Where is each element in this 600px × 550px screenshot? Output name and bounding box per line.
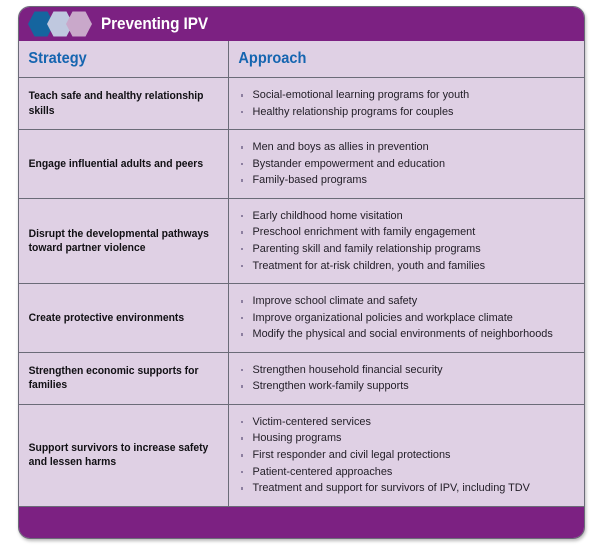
- strategy-cell: Disrupt the developmental pathways towar…: [19, 198, 228, 283]
- strategy-text: Create protective environments: [19, 301, 219, 335]
- hexagon-mauve-icon: [66, 11, 92, 37]
- table-header-row: Strategy Approach: [19, 41, 584, 78]
- approach-cell: Victim-centered services Housing program…: [228, 404, 584, 505]
- approach-list: Men and boys as allies in prevention Bys…: [240, 139, 577, 189]
- table-row: Create protective environments Improve s…: [19, 284, 584, 353]
- list-item: Improve organizational policies and work…: [240, 310, 577, 327]
- strategy-text: Strengthen economic supports for familie…: [19, 354, 219, 403]
- column-header-approach-label: Approach: [229, 41, 563, 77]
- strategy-cell: Strengthen economic supports for familie…: [19, 352, 228, 404]
- list-item: Housing programs: [240, 430, 577, 447]
- strategy-text: Support survivors to increase safety and…: [19, 431, 219, 480]
- column-header-strategy-label: Strategy: [19, 41, 215, 77]
- strategy-cell: Support survivors to increase safety and…: [19, 404, 228, 505]
- list-item: Treatment and support for survivors of I…: [240, 480, 577, 497]
- list-item: Preschool enrichment with family engagem…: [240, 224, 577, 241]
- card-footer: [19, 506, 584, 538]
- page-root: Preventing IPV Strategy Approach: [0, 0, 600, 550]
- list-item: Strengthen household financial security: [240, 362, 577, 379]
- strategy-text: Engage influential adults and peers: [19, 147, 219, 181]
- strategy-cell: Create protective environments: [19, 284, 228, 353]
- list-item: Men and boys as allies in prevention: [240, 139, 577, 156]
- table-head: Strategy Approach: [19, 41, 584, 78]
- approach-cell: Social-emotional learning programs for y…: [228, 78, 584, 130]
- list-item: Patient-centered approaches: [240, 464, 577, 481]
- preventing-ipv-card: Preventing IPV Strategy Approach: [18, 6, 585, 539]
- card-titlebar: Preventing IPV: [19, 7, 584, 41]
- list-item: First responder and civil legal protecti…: [240, 447, 577, 464]
- table-body: Teach safe and healthy relationship skil…: [19, 78, 584, 506]
- approach-list: Strengthen household financial security …: [240, 362, 577, 395]
- approach-cell: Improve school climate and safety Improv…: [228, 284, 584, 353]
- list-item: Victim-centered services: [240, 414, 577, 431]
- list-item: Family-based programs: [240, 172, 577, 189]
- strategy-text: Disrupt the developmental pathways towar…: [19, 217, 219, 266]
- table-row: Strengthen economic supports for familie…: [19, 352, 584, 404]
- approach-cell: Strengthen household financial security …: [228, 352, 584, 404]
- list-item: Early childhood home visitation: [240, 208, 577, 225]
- list-item: Healthy relationship programs for couple…: [240, 104, 577, 121]
- table-row: Teach safe and healthy relationship skil…: [19, 78, 584, 130]
- list-item: Modify the physical and social environme…: [240, 326, 577, 343]
- column-header-strategy: Strategy: [19, 41, 228, 78]
- strategy-cell: Teach safe and healthy relationship skil…: [19, 78, 228, 130]
- table-row: Disrupt the developmental pathways towar…: [19, 198, 584, 283]
- approach-list: Improve school climate and safety Improv…: [240, 293, 577, 343]
- list-item: Parenting skill and family relationship …: [240, 241, 577, 258]
- approach-list: Early childhood home visitation Preschoo…: [240, 208, 577, 274]
- approach-list: Social-emotional learning programs for y…: [240, 87, 577, 120]
- column-header-approach: Approach: [228, 41, 584, 78]
- strategy-text: Teach safe and healthy relationship skil…: [19, 79, 219, 128]
- card-title: Preventing IPV: [101, 16, 208, 33]
- list-item: Social-emotional learning programs for y…: [240, 87, 577, 104]
- list-item: Treatment for at-risk children, youth an…: [240, 258, 577, 275]
- strategy-cell: Engage influential adults and peers: [19, 130, 228, 199]
- list-item: Bystander empowerment and education: [240, 156, 577, 173]
- approach-cell: Men and boys as allies in prevention Bys…: [228, 130, 584, 199]
- approach-cell: Early childhood home visitation Preschoo…: [228, 198, 584, 283]
- table-row: Support survivors to increase safety and…: [19, 404, 584, 505]
- hexagon-logo: [28, 11, 92, 37]
- strategy-approach-table: Strategy Approach Teach safe and healthy…: [19, 41, 584, 506]
- table-row: Engage influential adults and peers Men …: [19, 130, 584, 199]
- list-item: Strengthen work-family supports: [240, 378, 577, 395]
- list-item: Improve school climate and safety: [240, 293, 577, 310]
- approach-list: Victim-centered services Housing program…: [240, 414, 577, 497]
